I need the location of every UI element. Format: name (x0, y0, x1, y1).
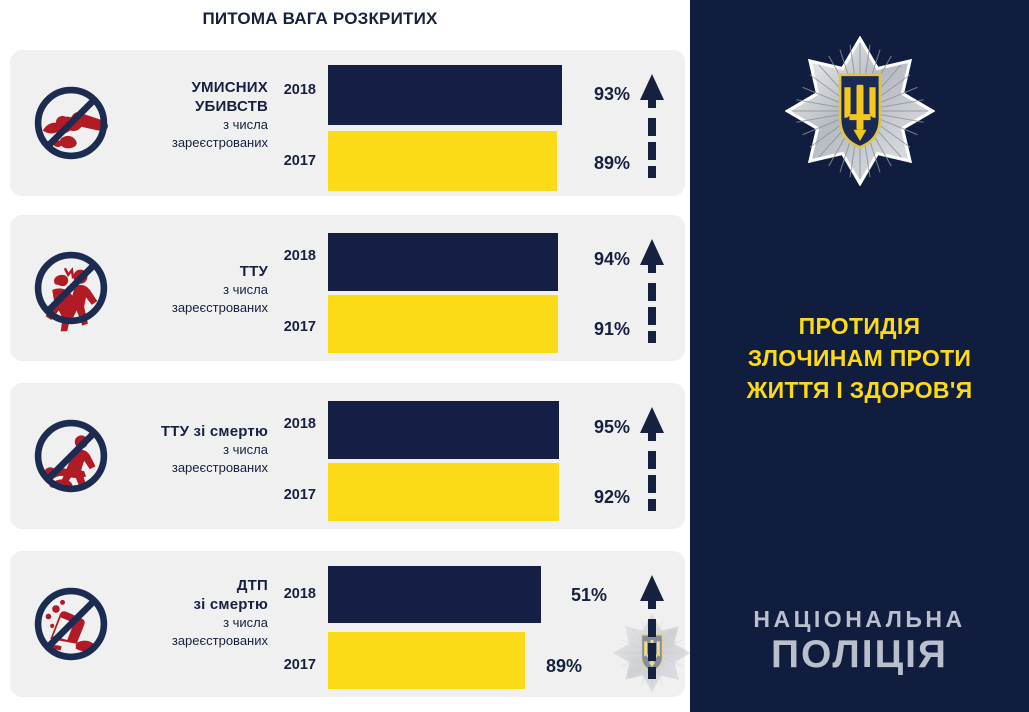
card-label-block: УМИСНИХ УБИВСТВ з числа зареєстрованих (118, 78, 268, 152)
no-assault-icon (24, 241, 118, 335)
stat-card-intentional-murders: УМИСНИХ УБИВСТВ з числа зареєстрованих 2… (10, 50, 685, 196)
police-star-badge-icon (785, 36, 935, 191)
year-label-2018: 2018 (268, 248, 316, 264)
bar-2018 (328, 65, 562, 125)
no-fatal-crash-icon (24, 577, 118, 671)
value-2017: 92% (568, 487, 630, 508)
card-title-line: ТТУ зі смертю (118, 422, 268, 441)
year-label-2018: 2018 (268, 416, 316, 432)
card-subtitle-line: зареєстрованих (118, 134, 268, 152)
card-subtitle-line: зареєстрованих (118, 299, 268, 317)
card-title-line: УБИВСТВ (118, 97, 268, 116)
year-label-2017: 2017 (268, 153, 316, 169)
card-subtitle-line: зареєстрованих (118, 459, 268, 477)
year-label-2017: 2017 (268, 319, 316, 335)
bar-2017 (328, 632, 525, 689)
card-title-line: УМИСНИХ (118, 78, 268, 97)
bar-2018 (328, 401, 559, 459)
card-subtitle-line: з числа (118, 116, 268, 134)
slogan-line-3: ЖИТТЯ І ЗДОРОВ'Я (690, 374, 1029, 406)
dashed-up-arrow-icon (639, 575, 665, 679)
value-2017: 91% (568, 319, 630, 340)
page-title: ПИТОМА ВАГА РОЗКРИТИХ (0, 9, 640, 29)
value-2018: 51% (545, 585, 607, 606)
card-title-line: ДТП (118, 576, 268, 595)
value-2017: 89% (568, 153, 630, 174)
no-fatal-assault-icon (24, 409, 118, 503)
stat-card-bodily-harm: ТТУ з числа зареєстрованих 2018 2017 94%… (10, 215, 685, 361)
year-label-2018: 2018 (268, 586, 316, 602)
card-subtitle-line: зареєстрованих (118, 632, 268, 650)
value-2017: 89% (520, 656, 582, 677)
value-2018: 95% (568, 417, 630, 438)
card-label-block: ТТУ зі смертю з числа зареєстрованих (118, 422, 268, 477)
card-subtitle-line: з числа (118, 441, 268, 459)
bar-2018 (328, 566, 541, 623)
card-subtitle-line: з числа (118, 281, 268, 299)
value-2018: 93% (568, 84, 630, 105)
brand-panel: ПРОТИДІЯ ЗЛОЧИНАМ ПРОТИ ЖИТТЯ І ЗДОРОВ'Я… (690, 0, 1029, 712)
dashed-up-arrow-icon (639, 239, 665, 343)
card-label-block: ДТП зі смертю з числа зареєстрованих (118, 576, 268, 650)
bar-2018 (328, 233, 558, 291)
stat-card-fatal-bodily-harm: ТТУ зі смертю з числа зареєстрованих 201… (10, 383, 685, 529)
wordmark: НАЦІОНАЛЬНА ПОЛІЦІЯ (690, 605, 1029, 677)
bar-2017 (328, 131, 557, 191)
dashed-up-arrow-icon (639, 407, 665, 511)
year-label-2017: 2017 (268, 657, 316, 673)
no-murder-body-icon (24, 76, 118, 170)
card-title-line: зі смертю (118, 595, 268, 614)
slogan-line-1: ПРОТИДІЯ (690, 310, 1029, 342)
wordmark-line-police: ПОЛІЦІЯ (690, 633, 1029, 677)
bar-2017 (328, 463, 559, 521)
card-subtitle-line: з числа (118, 614, 268, 632)
year-label-2017: 2017 (268, 487, 316, 503)
charts-panel: ПИТОМА ВАГА РОЗКРИТИХ (0, 0, 690, 712)
card-label-block: ТТУ з числа зареєстрованих (118, 262, 268, 317)
stat-card-fatal-road-accidents: ДТП зі смертю з числа зареєстрованих 201… (10, 551, 685, 697)
infographic-root: ПИТОМА ВАГА РОЗКРИТИХ (0, 0, 1029, 712)
value-2018: 94% (568, 249, 630, 270)
dashed-up-arrow-icon (639, 74, 665, 178)
year-label-2018: 2018 (268, 82, 316, 98)
wordmark-line-national: НАЦІОНАЛЬНА (690, 605, 1029, 633)
slogan-text: ПРОТИДІЯ ЗЛОЧИНАМ ПРОТИ ЖИТТЯ І ЗДОРОВ'Я (690, 310, 1029, 406)
bar-2017 (328, 295, 558, 353)
slogan-line-2: ЗЛОЧИНАМ ПРОТИ (690, 342, 1029, 374)
card-title-line: ТТУ (118, 262, 268, 281)
